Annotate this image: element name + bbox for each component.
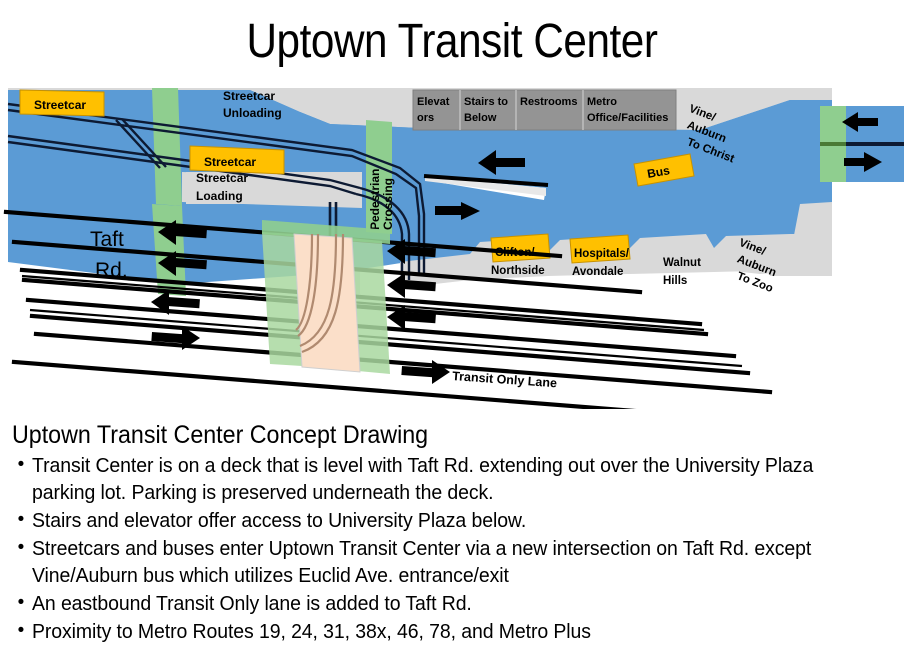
svg-text:Streetcar: Streetcar <box>223 89 275 103</box>
svg-text:Rd.: Rd. <box>95 259 128 282</box>
concept-drawing-diagram: Elevat ors Stairs to Below Restrooms Met… <box>0 84 904 409</box>
facility-box-restrooms[interactable]: Restrooms <box>520 96 577 108</box>
bullet-marker: • <box>10 507 32 533</box>
bullet-marker: • <box>10 590 32 616</box>
svg-text:ors: ors <box>417 112 434 124</box>
streetcar-bay-lower[interactable]: Streetcar <box>190 146 284 174</box>
bullet-text: Proximity to Metro Routes 19, 24, 31, 38… <box>32 618 859 645</box>
svg-text:Restrooms: Restrooms <box>520 96 577 108</box>
facility-box-group: Elevat ors Stairs to Below Restrooms Met… <box>413 90 676 130</box>
concept-bullet-list: • Transit Center is on a deck that is le… <box>10 452 902 646</box>
concept-heading: Uptown Transit Center Concept Drawing <box>12 420 428 450</box>
svg-text:Crossing: Crossing <box>381 178 395 230</box>
euclid-ave-stub <box>820 106 904 182</box>
list-item: • Proximity to Metro Routes 19, 24, 31, … <box>10 618 902 645</box>
svg-text:Below: Below <box>464 112 497 124</box>
svg-text:Elevat: Elevat <box>417 96 450 108</box>
svg-text:Metro: Metro <box>587 96 617 108</box>
list-item: • Transit Center is on a deck that is le… <box>10 452 902 506</box>
svg-text:Stairs to: Stairs to <box>464 96 508 108</box>
svg-text:Streetcar: Streetcar <box>34 98 86 112</box>
bullet-marker: • <box>10 535 32 561</box>
bullet-marker: • <box>10 452 32 478</box>
bullet-text: Transit Center is on a deck that is leve… <box>32 452 859 506</box>
slide-root: Uptown Transit Center <box>0 0 904 671</box>
svg-text:Taft: Taft <box>90 228 124 251</box>
page-title: Uptown Transit Center <box>54 14 850 70</box>
bullet-text: Streetcars and buses enter Uptown Transi… <box>32 535 859 589</box>
taft-intersection-box <box>294 234 360 372</box>
bullet-marker: • <box>10 618 32 644</box>
svg-text:Office/Facilities: Office/Facilities <box>587 112 668 124</box>
streetcar-bay-upper[interactable]: Streetcar <box>20 90 104 116</box>
svg-text:Pedestrian: Pedestrian <box>368 169 382 230</box>
svg-text:Unloading: Unloading <box>223 106 282 120</box>
bullet-text: Stairs and elevator offer access to Univ… <box>32 507 859 534</box>
bullet-text: An eastbound Transit Only lane is added … <box>32 590 859 617</box>
svg-text:Streetcar: Streetcar <box>204 155 256 169</box>
list-item: • Stairs and elevator offer access to Un… <box>10 507 902 534</box>
list-item: • Streetcars and buses enter Uptown Tran… <box>10 535 902 589</box>
list-item: • An eastbound Transit Only lane is adde… <box>10 590 902 617</box>
